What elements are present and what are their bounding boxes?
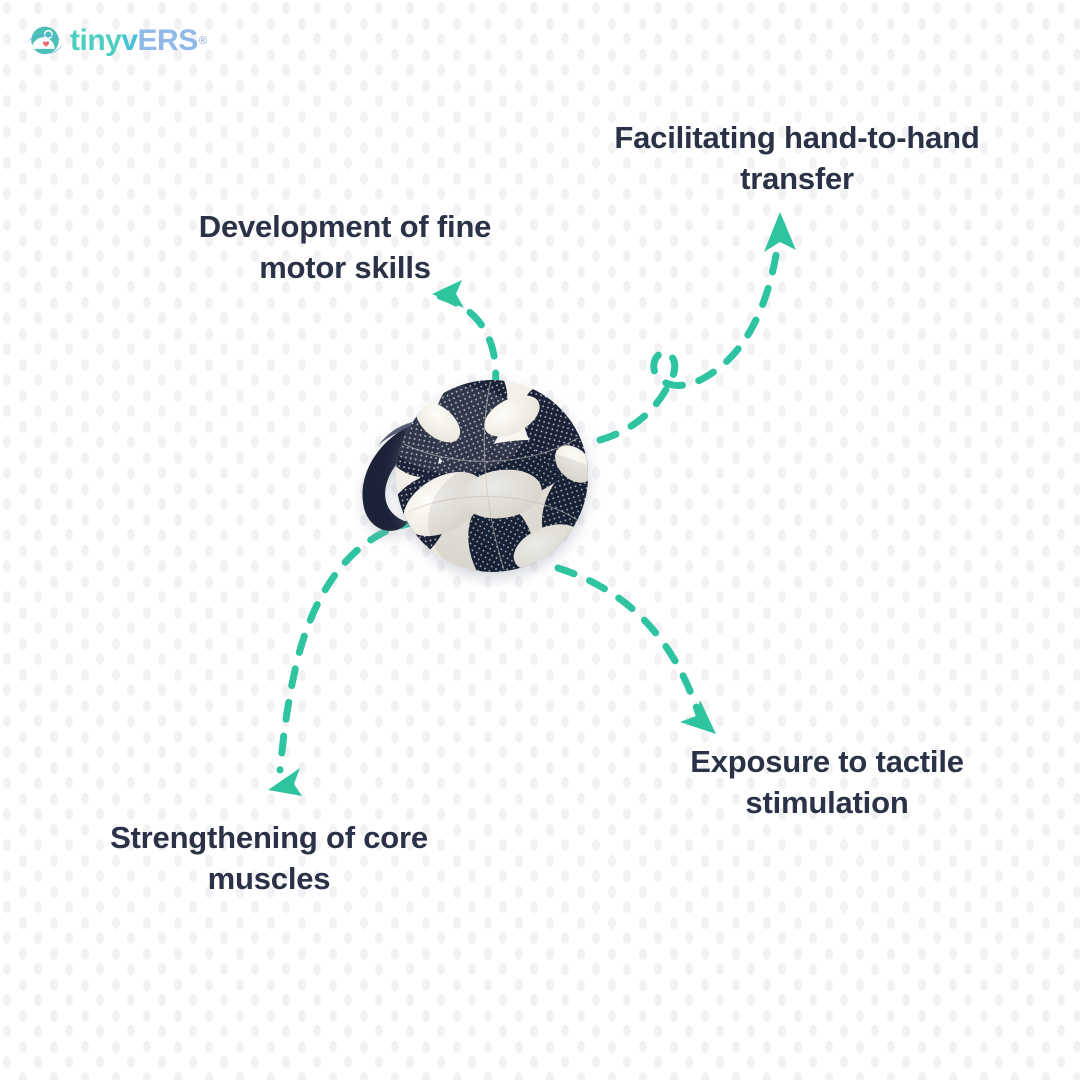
brand-logo[interactable]: tinyvERS®	[24, 18, 214, 64]
benefit-label-fine-motor: Development of fine motor skills	[170, 207, 520, 289]
brand-wordmark: tinyvERS®	[70, 20, 207, 62]
benefit-label-core-muscles: Strengthening of core muscles	[78, 818, 460, 900]
benefit-label-hand-transfer: Facilitating hand-to-hand transfer	[612, 118, 982, 200]
brand-name-part-3: ERS	[138, 26, 198, 56]
arrow-head-hand-transfer	[764, 212, 796, 252]
arrow-path-hand-transfer	[600, 228, 780, 440]
tinyvers-globe-logo-icon	[24, 20, 66, 62]
brand-name-part-2: v	[121, 26, 137, 56]
infographic-canvas: tinyvERS®	[0, 0, 1080, 1080]
registered-trademark-mark: ®	[199, 35, 207, 47]
benefit-label-tactile: Exposure to tactile stimulation	[660, 742, 994, 824]
arrow-path-tactile	[558, 568, 700, 718]
product-image-puzzle-ball	[352, 372, 614, 588]
arrow-head-core-muscles	[268, 768, 302, 796]
brand-name-part-1: tiny	[70, 26, 121, 56]
arrow-head-tactile	[680, 700, 716, 734]
